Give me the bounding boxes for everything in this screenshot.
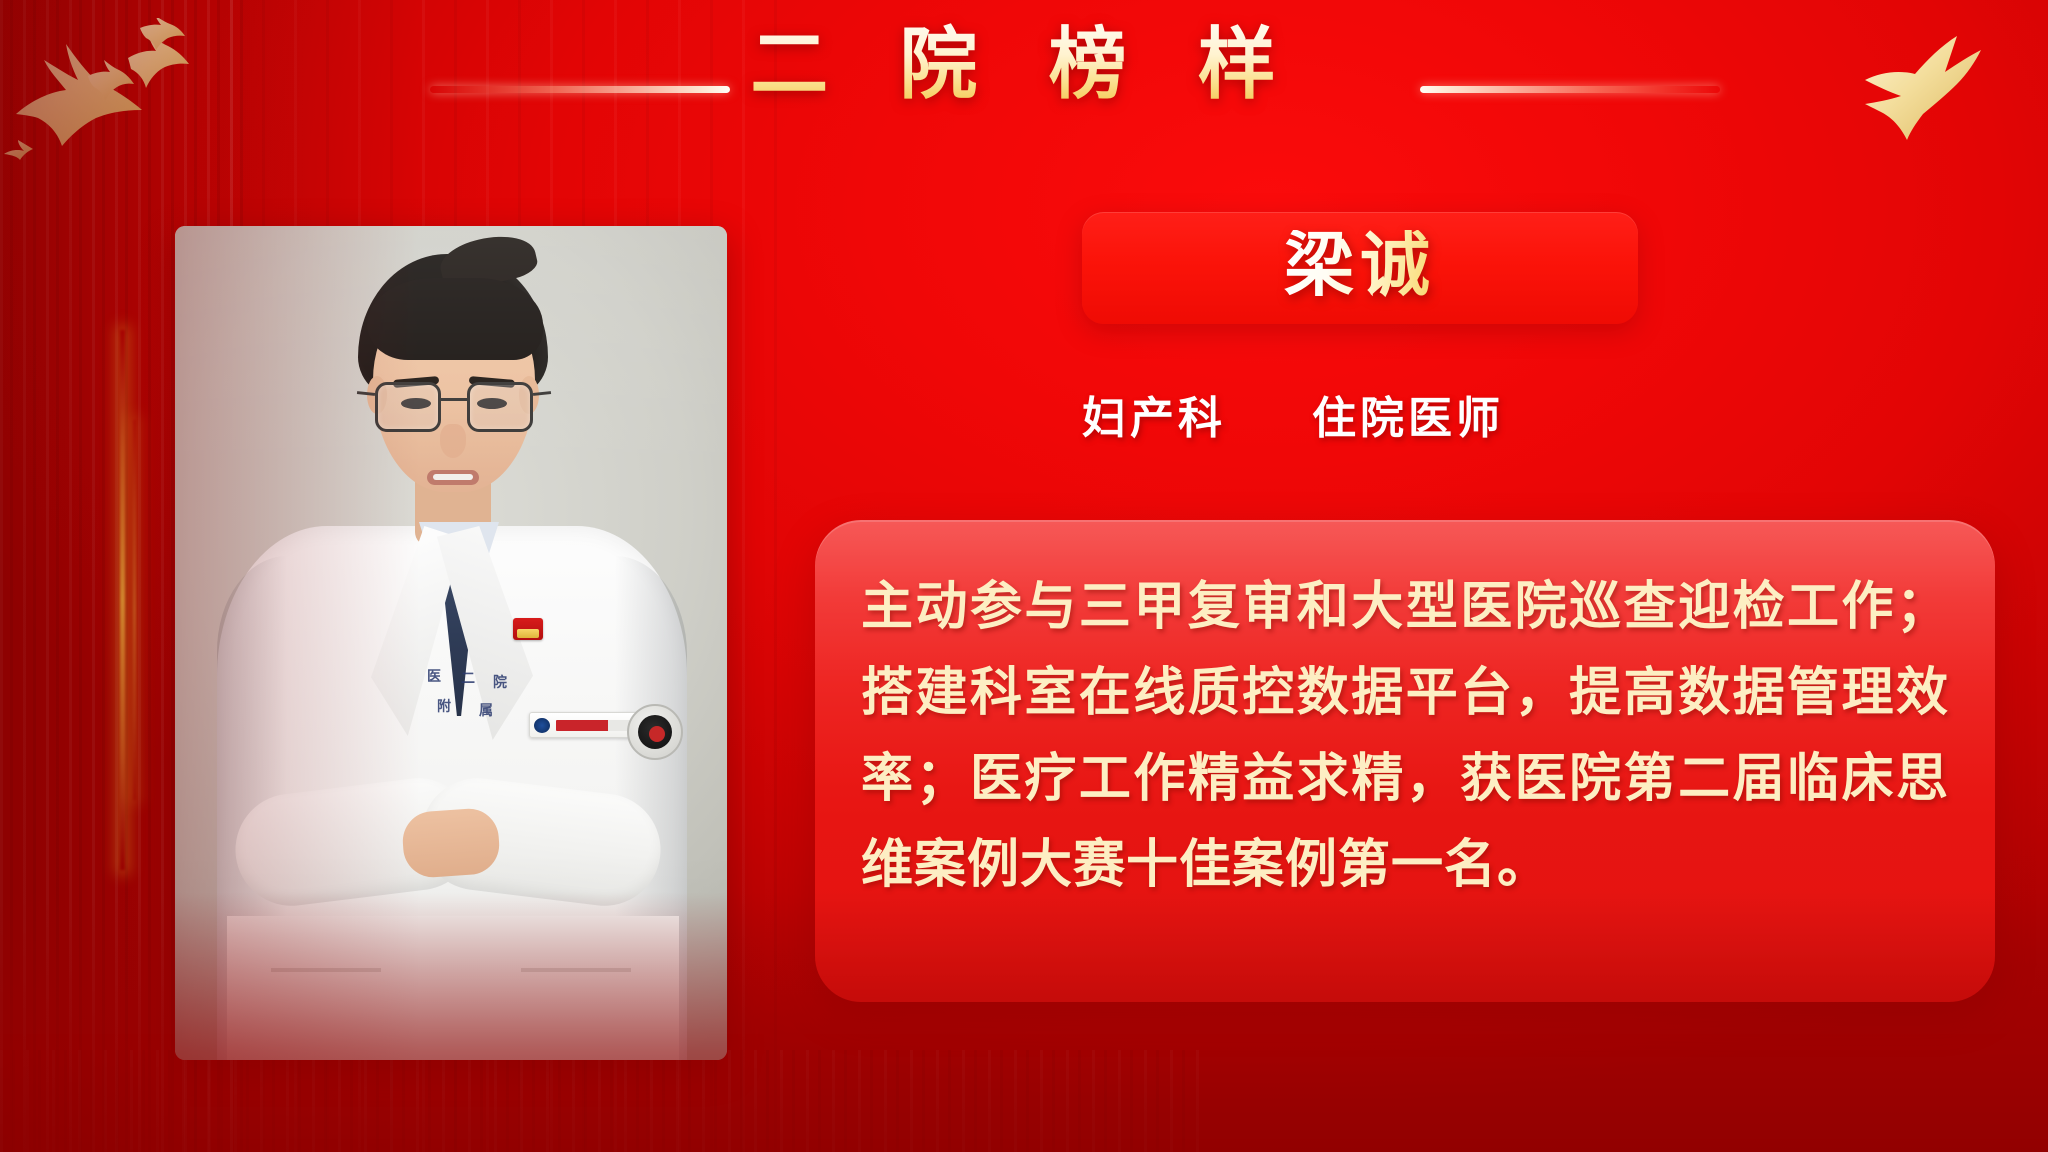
portrait-figure: 医 二 院 附 属 — [175, 226, 727, 1060]
party-emblem-pin-icon — [513, 618, 543, 640]
person-name: 梁诚 — [1284, 230, 1436, 306]
mouth — [427, 470, 479, 485]
honor-poster: 二 院 榜 样 — [0, 0, 2048, 1152]
portrait-photo: 医 二 院 附 属 梁诚 医生证件照 — [175, 226, 727, 1060]
coat-pocket-right — [521, 968, 631, 972]
nose — [440, 424, 466, 458]
gold-accent-line-secondary — [133, 420, 136, 800]
poster-header: 二 院 榜 样 — [0, 0, 2048, 160]
lens-right — [467, 382, 533, 432]
dove-icon — [1855, 22, 2045, 152]
role-row: 妇产科 住院医师 — [1082, 384, 1702, 444]
job-title-label: 住院医师 — [1312, 382, 1504, 446]
hand-left — [401, 807, 501, 880]
hospital-logo-patch-icon — [627, 704, 683, 760]
bottom-stripe-texture — [0, 1050, 1200, 1152]
gold-accent-line — [120, 330, 125, 870]
achievements-card: 主动参与三甲复审和大型医院巡查迎检工作；搭建科室在线质控数据平台，提高数据管理效… — [815, 520, 1995, 1002]
hair-fringe — [367, 278, 543, 360]
achievements-text: 主动参与三甲复审和大型医院巡查迎检工作；搭建科室在线质控数据平台，提高数据管理效… — [861, 564, 1949, 908]
glasses-bridge — [439, 398, 469, 401]
coat-pocket-left — [271, 968, 381, 972]
crossed-arms — [235, 786, 667, 946]
glasses-temple-left — [357, 391, 375, 396]
page-title: 二 院 榜 样 — [0, 22, 2048, 108]
decorative-rule-left-icon — [430, 86, 730, 93]
glasses-temple-right — [533, 391, 551, 396]
department-label: 妇产科 — [1082, 382, 1226, 446]
name-banner: 梁诚 — [1082, 212, 1638, 324]
decorative-rule-right-icon — [1420, 86, 1720, 93]
coat-embroidery-text: 医 二 院 附 属 — [427, 666, 545, 722]
lens-left — [375, 382, 441, 432]
